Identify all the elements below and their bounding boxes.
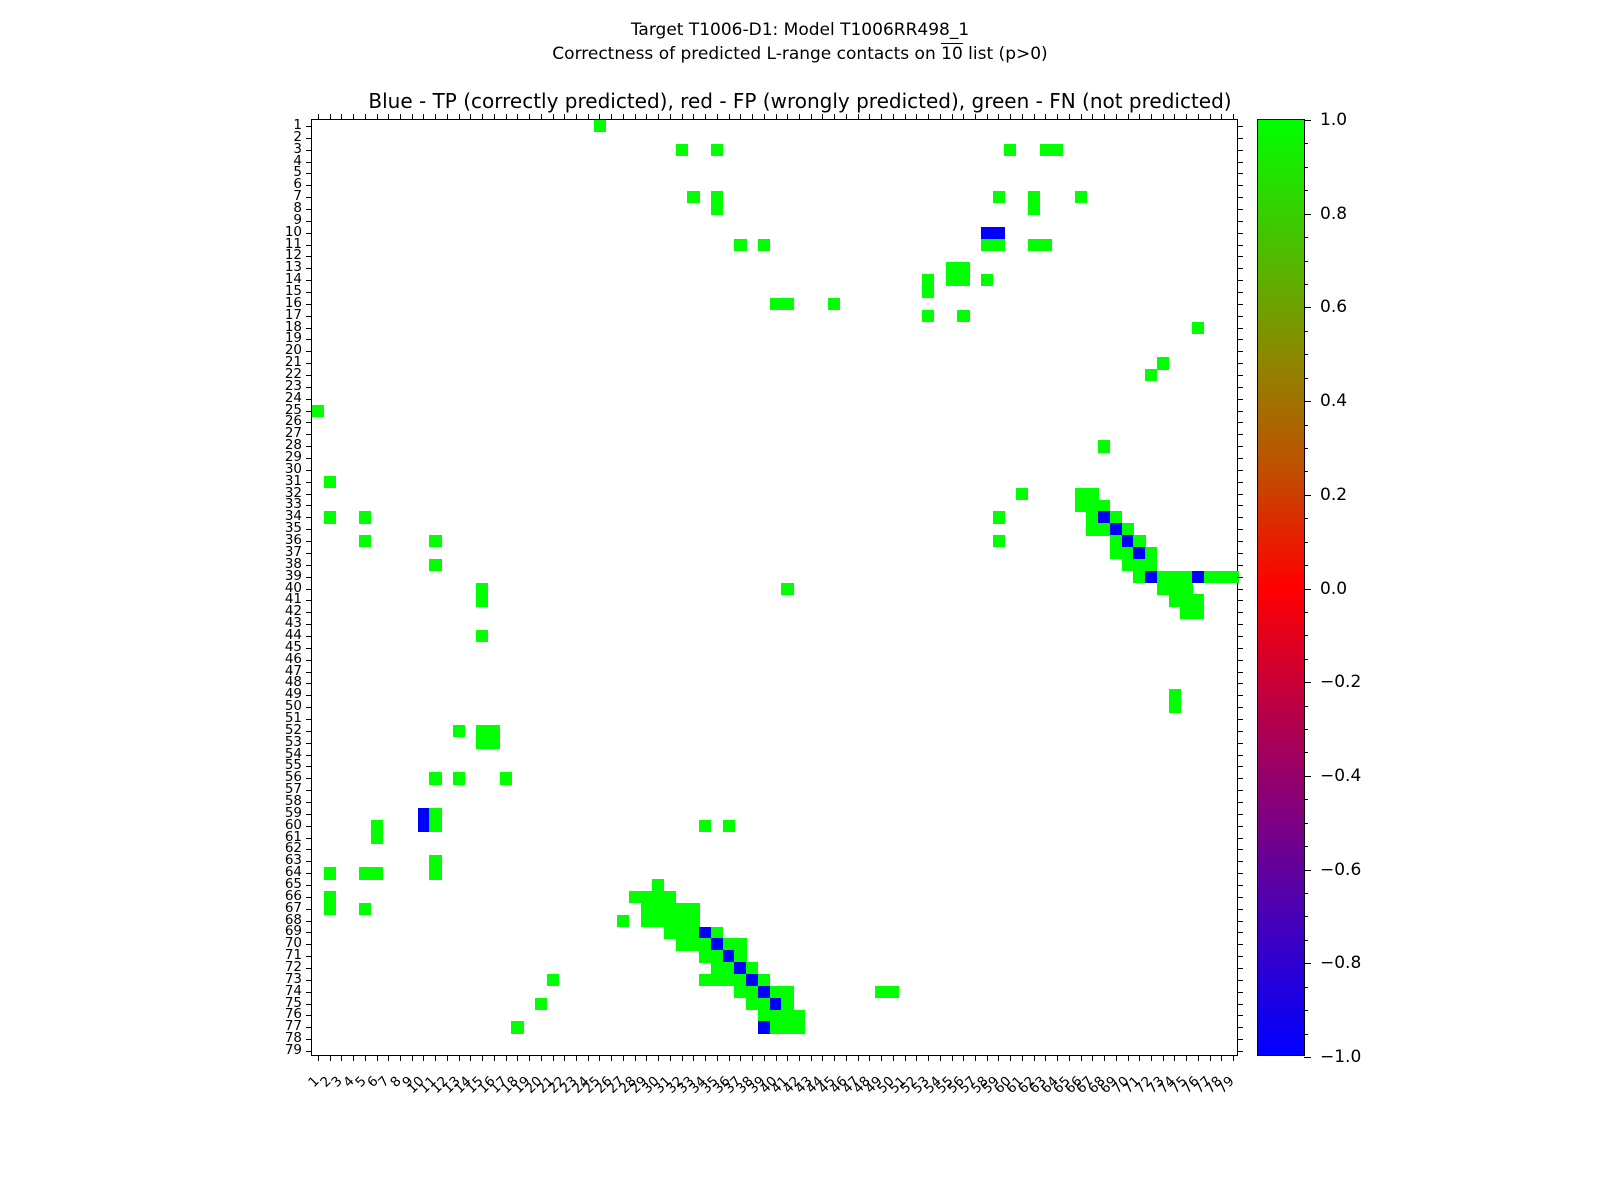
heatmap-cell — [1122, 547, 1134, 559]
x-axis-tick-label: 51 — [827, 1073, 909, 1155]
y-axis-tick-right — [1237, 256, 1243, 257]
y-axis-tick — [306, 411, 312, 412]
x-axis-tick-label: 62 — [956, 1073, 1038, 1155]
x-axis-tick-label: 3 — [264, 1073, 346, 1155]
y-axis-tick-label: 44 — [242, 629, 302, 641]
y-axis-tick-right — [1237, 992, 1243, 993]
y-axis-tick-label: 26 — [242, 415, 302, 427]
x-axis-tick-top — [494, 114, 495, 120]
heatmap-cell — [1122, 523, 1134, 535]
heatmap-cell — [664, 903, 676, 915]
y-axis-tick — [306, 162, 312, 163]
heatmap-cell — [1028, 191, 1040, 203]
y-axis-tick-label: 21 — [242, 356, 302, 368]
y-axis-tick-right — [1237, 921, 1243, 922]
x-axis-tick — [1116, 1055, 1117, 1061]
x-axis-tick-top — [611, 114, 612, 120]
heatmap-cell — [1110, 547, 1122, 559]
colorbar-minor-tick — [1304, 471, 1308, 472]
x-axis-tick-top — [1210, 114, 1211, 120]
x-axis-tick-top — [635, 114, 636, 120]
y-axis-tick — [306, 885, 312, 886]
y-axis-tick — [306, 268, 312, 269]
y-axis-tick — [306, 1004, 312, 1005]
x-axis-tick-top — [740, 114, 741, 120]
x-axis-tick-top — [588, 114, 589, 120]
x-axis-tick-top — [377, 114, 378, 120]
y-axis-tick — [306, 660, 312, 661]
heatmap-cell — [1075, 500, 1087, 512]
x-axis-tick-label: 70 — [1050, 1073, 1132, 1155]
x-axis-tick — [482, 1055, 483, 1061]
x-axis-tick-top — [388, 114, 389, 120]
x-axis-tick-label: 22 — [487, 1073, 569, 1155]
heatmap-cell — [312, 405, 324, 417]
y-axis-tick-right — [1237, 778, 1243, 779]
x-axis-tick — [693, 1055, 694, 1061]
x-axis-tick-label: 75 — [1109, 1073, 1191, 1155]
x-axis-tick — [1045, 1055, 1046, 1061]
heatmap-cell — [734, 950, 746, 962]
x-axis-tick-top — [353, 114, 354, 120]
y-axis-tick-label: 78 — [242, 1032, 302, 1044]
y-axis-tick-right — [1237, 802, 1243, 803]
x-axis-tick-label: 44 — [745, 1073, 827, 1155]
y-axis-tick-label: 61 — [242, 831, 302, 843]
x-axis-tick-label: 42 — [722, 1073, 804, 1155]
y-axis-tick — [306, 245, 312, 246]
x-axis-tick-top — [1045, 114, 1046, 120]
colorbar-tick-label: 1.0 — [1320, 110, 1347, 130]
heatmap-cell — [429, 559, 441, 571]
x-axis-tick-label: 53 — [851, 1073, 933, 1155]
x-axis-tick-top — [330, 114, 331, 120]
x-axis-tick-top — [1186, 114, 1187, 120]
y-axis-tick-right — [1237, 849, 1243, 850]
heatmap-cell — [711, 203, 723, 215]
x-axis-tick-label: 16 — [417, 1073, 499, 1155]
x-axis-tick-label: 40 — [698, 1073, 780, 1155]
colorbar-minor-tick — [1304, 542, 1308, 543]
heatmap-cell — [734, 938, 746, 950]
heatmap-cell — [453, 725, 465, 737]
heatmap-cell — [641, 891, 653, 903]
heatmap-cell — [1192, 606, 1204, 618]
x-axis-tick-top — [893, 114, 894, 120]
heatmap-cell — [723, 820, 735, 832]
y-axis-tick — [306, 992, 312, 993]
y-axis-tick-right — [1237, 162, 1243, 163]
x-axis-tick-label: 77 — [1132, 1073, 1214, 1155]
colorbar-minor-tick — [1304, 706, 1308, 707]
suptitle-line-2-post: list (p>0) — [963, 44, 1048, 64]
y-axis-tick-right — [1237, 1027, 1243, 1028]
x-axis-tick-top — [1010, 114, 1011, 120]
y-axis-tick-right — [1237, 1039, 1243, 1040]
y-axis-tick-right — [1237, 707, 1243, 708]
colorbar-minor-tick — [1304, 799, 1308, 800]
axes-title: Blue - TP (correctly predicted), red - F… — [0, 89, 1600, 113]
x-axis-tick — [1069, 1055, 1070, 1061]
y-axis-tick-right — [1237, 245, 1243, 246]
x-axis-tick — [776, 1055, 777, 1061]
x-axis-tick-label: 5 — [287, 1073, 369, 1155]
x-axis-tick-label: 4 — [276, 1073, 358, 1155]
x-axis-tick-label: 13 — [381, 1073, 463, 1155]
x-axis-tick — [646, 1055, 647, 1061]
x-axis-tick — [588, 1055, 589, 1061]
heatmap-cell — [887, 986, 899, 998]
x-axis-tick — [928, 1055, 929, 1061]
heatmap-cell — [922, 310, 934, 322]
y-axis-tick — [306, 909, 312, 910]
heatmap-cell — [781, 986, 793, 998]
x-axis-tick-top — [881, 114, 882, 120]
heatmap-cell — [957, 274, 969, 286]
y-axis-tick — [306, 434, 312, 435]
y-axis-tick-right — [1237, 458, 1243, 459]
x-axis-tick — [423, 1055, 424, 1061]
x-axis-tick-label: 39 — [686, 1073, 768, 1155]
y-axis-tick-right — [1237, 624, 1243, 625]
x-axis-tick-label: 17 — [428, 1073, 510, 1155]
x-axis-tick — [412, 1055, 413, 1061]
x-axis-tick — [799, 1055, 800, 1061]
y-axis-tick-label: 74 — [242, 985, 302, 997]
y-axis-tick-label: 36 — [242, 534, 302, 546]
heatmap-cell — [1133, 571, 1145, 583]
heatmap-cell — [1098, 511, 1110, 523]
y-axis-tick-label: 63 — [242, 854, 302, 866]
colorbar-minor-tick — [1304, 143, 1308, 144]
x-axis-tick-label: 69 — [1038, 1073, 1120, 1155]
y-axis-tick — [306, 861, 312, 862]
x-axis-tick — [599, 1055, 600, 1061]
heatmap-cell — [770, 298, 782, 310]
x-axis-tick — [1092, 1055, 1093, 1061]
x-axis-tick-label: 59 — [921, 1073, 1003, 1155]
y-axis-tick-right — [1237, 612, 1243, 613]
x-axis-tick-top — [1163, 114, 1164, 120]
y-axis-tick — [306, 351, 312, 352]
x-axis-tick-top — [799, 114, 800, 120]
x-axis-tick — [1151, 1055, 1152, 1061]
suptitle-overlined-number: 10 — [941, 43, 963, 64]
y-axis-tick — [306, 802, 312, 803]
y-axis-tick — [306, 980, 312, 981]
heatmap-cells — [312, 120, 1237, 1055]
y-axis-tick-label: 37 — [242, 546, 302, 558]
y-axis-tick-right — [1237, 399, 1243, 400]
heatmap-cell — [711, 950, 723, 962]
colorbar-tick — [1304, 589, 1311, 590]
y-axis-tick — [306, 849, 312, 850]
heatmap-cell — [652, 915, 664, 927]
y-axis-tick — [306, 778, 312, 779]
y-axis-tick-label: 58 — [242, 795, 302, 807]
heatmap-cell — [359, 535, 371, 547]
y-axis-tick-label: 12 — [242, 249, 302, 261]
y-axis-tick — [306, 648, 312, 649]
x-axis-tick — [365, 1055, 366, 1061]
colorbar-tick-label: 0.0 — [1320, 579, 1347, 599]
heatmap-cell — [993, 535, 1005, 547]
heatmap-cell — [770, 998, 782, 1010]
colorbar-minor-tick — [1304, 635, 1308, 636]
x-axis-tick-top — [1233, 114, 1234, 120]
y-axis-tick — [306, 826, 312, 827]
y-axis-tick — [306, 873, 312, 874]
colorbar-tick-label: 0.2 — [1320, 485, 1347, 505]
y-axis-tick-right — [1237, 838, 1243, 839]
y-axis-tick-right — [1237, 932, 1243, 933]
y-axis-tick-label: 52 — [242, 724, 302, 736]
x-axis-tick-label: 74 — [1097, 1073, 1179, 1155]
y-axis-tick — [306, 600, 312, 601]
y-axis-tick-label: 1 — [242, 119, 302, 131]
x-axis-tick-label: 21 — [475, 1073, 557, 1155]
x-axis-tick — [459, 1055, 460, 1061]
heatmap-cell — [1133, 547, 1145, 559]
y-axis-tick — [306, 743, 312, 744]
y-axis-tick-right — [1237, 565, 1243, 566]
x-axis-tick — [1034, 1055, 1035, 1061]
heatmap-cell — [711, 962, 723, 974]
heatmap-cell — [1180, 594, 1192, 606]
y-axis-tick-label: 23 — [242, 380, 302, 392]
x-axis-tick-label: 18 — [440, 1073, 522, 1155]
heatmap-cell — [359, 867, 371, 879]
heatmap-cell — [758, 986, 770, 998]
y-axis-tick-label: 45 — [242, 641, 302, 653]
x-axis-tick-label: 72 — [1074, 1073, 1156, 1155]
heatmap-cell — [781, 298, 793, 310]
heatmap-cell — [1098, 500, 1110, 512]
heatmap-cell — [711, 144, 723, 156]
y-axis-tick-label: 4 — [242, 155, 302, 167]
x-axis-tick — [764, 1055, 765, 1061]
heatmap-cell — [781, 1021, 793, 1033]
y-axis-tick-right — [1237, 280, 1243, 281]
heatmap-cell — [699, 820, 711, 832]
x-axis-tick-label: 45 — [757, 1073, 839, 1155]
y-axis-tick-label: 46 — [242, 653, 302, 665]
heatmap-cell — [758, 1010, 770, 1022]
heatmap-cell — [781, 1010, 793, 1022]
y-axis-tick — [306, 387, 312, 388]
heatmap-cell — [1110, 511, 1122, 523]
heatmap-cell — [1051, 144, 1063, 156]
heatmap-cell — [687, 927, 699, 939]
heatmap-cell — [687, 938, 699, 950]
x-axis-tick — [353, 1055, 354, 1061]
y-axis-tick-right — [1237, 292, 1243, 293]
y-axis-tick — [306, 399, 312, 400]
x-axis-tick-top — [529, 114, 530, 120]
colorbar-minor-tick — [1304, 846, 1308, 847]
x-axis-tick-label: 54 — [862, 1073, 944, 1155]
x-axis-tick — [893, 1055, 894, 1061]
y-axis-tick — [306, 517, 312, 518]
x-axis-tick-label: 11 — [358, 1073, 440, 1155]
heatmap-cell — [1122, 535, 1134, 547]
colorbar-tick — [1304, 870, 1311, 871]
heatmap-cell — [1169, 583, 1181, 595]
y-axis-tick-right — [1237, 885, 1243, 886]
x-axis-tick — [682, 1055, 683, 1061]
colorbar-minor-tick — [1304, 893, 1308, 894]
y-axis-tick-label: 10 — [242, 226, 302, 238]
heatmap-cell — [746, 974, 758, 986]
heatmap-cell — [676, 144, 688, 156]
x-axis-tick-top — [1081, 114, 1082, 120]
x-axis-tick-label: 31 — [593, 1073, 675, 1155]
x-axis-tick-top — [318, 114, 319, 120]
y-axis-tick-label: 65 — [242, 878, 302, 890]
x-axis-tick-top — [670, 114, 671, 120]
x-axis-tick — [952, 1055, 953, 1061]
x-axis-tick — [1022, 1055, 1023, 1061]
y-axis-tick-right — [1237, 494, 1243, 495]
y-axis-tick — [306, 790, 312, 791]
heatmap-cell — [758, 239, 770, 251]
x-axis-tick — [787, 1055, 788, 1061]
x-axis-tick-label: 12 — [370, 1073, 452, 1155]
y-axis-tick-label: 66 — [242, 890, 302, 902]
y-axis-tick — [306, 755, 312, 756]
contact-map-plot[interactable] — [311, 119, 1238, 1056]
x-axis-tick — [623, 1055, 624, 1061]
y-axis-tick-label: 54 — [242, 748, 302, 760]
colorbar-tick-label: −0.4 — [1320, 766, 1361, 786]
y-axis-tick-label: 33 — [242, 498, 302, 510]
x-axis-tick-label: 34 — [628, 1073, 710, 1155]
colorbar-tick — [1304, 1057, 1311, 1058]
x-axis-tick — [881, 1055, 882, 1061]
y-axis-tick-right — [1237, 268, 1243, 269]
heatmap-cell — [1169, 571, 1181, 583]
heatmap-cell — [476, 630, 488, 642]
y-axis-tick-right — [1237, 422, 1243, 423]
x-axis-tick-label: 24 — [510, 1073, 592, 1155]
y-axis-tick-right — [1237, 505, 1243, 506]
y-axis-tick-right — [1237, 731, 1243, 732]
y-axis-tick — [306, 932, 312, 933]
heatmap-cell — [981, 239, 993, 251]
x-axis-tick-label: 26 — [534, 1073, 616, 1155]
colorbar-tick-label: 0.4 — [1320, 391, 1347, 411]
y-axis-tick-label: 47 — [242, 665, 302, 677]
heatmap-cell — [488, 737, 500, 749]
colorbar-minor-tick — [1304, 916, 1308, 917]
y-axis-tick-right — [1237, 185, 1243, 186]
x-axis-tick-label: 15 — [405, 1073, 487, 1155]
x-axis-tick — [740, 1055, 741, 1061]
heatmap-cell — [781, 583, 793, 595]
heatmap-cell — [1028, 203, 1040, 215]
x-axis-tick-top — [998, 114, 999, 120]
y-axis-tick — [306, 280, 312, 281]
heatmap-cell — [1040, 239, 1052, 251]
y-axis-tick-right — [1237, 600, 1243, 601]
x-axis-tick-top — [482, 114, 483, 120]
heatmap-cell — [429, 867, 441, 879]
x-axis-tick — [330, 1055, 331, 1061]
heatmap-cell — [1204, 571, 1216, 583]
y-axis-tick-label: 55 — [242, 759, 302, 771]
heatmap-cell — [629, 891, 641, 903]
x-axis-tick — [435, 1055, 436, 1061]
heatmap-cell — [758, 998, 770, 1010]
heatmap-cell — [418, 820, 430, 832]
y-axis-tick-label: 75 — [242, 997, 302, 1009]
x-axis-tick-label: 37 — [663, 1073, 745, 1155]
y-axis-tick-label: 3 — [242, 143, 302, 155]
heatmap-cell — [594, 120, 606, 132]
colorbar-minor-tick — [1304, 378, 1308, 379]
colorbar-tick-label: −0.2 — [1320, 672, 1361, 692]
y-axis-tick-label: 57 — [242, 783, 302, 795]
x-axis-tick — [529, 1055, 530, 1061]
heatmap-cell — [652, 891, 664, 903]
heatmap-cell — [758, 1021, 770, 1033]
heatmap-cell — [652, 903, 664, 915]
x-axis-tick-label: 57 — [898, 1073, 980, 1155]
y-axis-tick-right — [1237, 577, 1243, 578]
heatmap-cell — [359, 511, 371, 523]
heatmap-cell — [922, 274, 934, 286]
heatmap-cell — [476, 583, 488, 595]
y-axis-tick — [306, 921, 312, 922]
x-axis-tick-top — [423, 114, 424, 120]
y-axis-tick-right — [1237, 897, 1243, 898]
y-axis-tick — [306, 1039, 312, 1040]
heatmap-cell — [957, 310, 969, 322]
heatmap-cell — [1192, 571, 1204, 583]
x-axis-tick — [400, 1055, 401, 1061]
x-axis-tick-top — [517, 114, 518, 120]
y-axis-tick-label: 64 — [242, 866, 302, 878]
heatmap-cell — [1110, 535, 1122, 547]
colorbar[interactable] — [1257, 119, 1305, 1056]
x-axis-tick — [752, 1055, 753, 1061]
x-axis-tick-top — [717, 114, 718, 120]
y-axis-tick-right — [1237, 541, 1243, 542]
heatmap-cell — [1122, 559, 1134, 571]
y-axis-tick-right — [1237, 1004, 1243, 1005]
heatmap-cell — [324, 476, 336, 488]
heatmap-cell — [324, 903, 336, 915]
y-axis-tick — [306, 482, 312, 483]
heatmap-cell — [957, 262, 969, 274]
y-axis-tick-right — [1237, 150, 1243, 151]
y-axis-tick — [306, 683, 312, 684]
x-axis-tick-label: 36 — [651, 1073, 733, 1155]
y-axis-tick-label: 2 — [242, 131, 302, 143]
y-axis-tick — [306, 1027, 312, 1028]
x-axis-tick-top — [869, 114, 870, 120]
heatmap-cell — [734, 962, 746, 974]
heatmap-cell — [535, 998, 547, 1010]
y-axis-tick-label: 18 — [242, 321, 302, 333]
x-axis-tick — [635, 1055, 636, 1061]
y-axis-tick — [306, 446, 312, 447]
x-axis-tick-label: 71 — [1062, 1073, 1144, 1155]
y-axis-tick — [306, 339, 312, 340]
colorbar-minor-tick — [1304, 354, 1308, 355]
y-axis-tick — [306, 541, 312, 542]
y-axis-tick-label: 50 — [242, 700, 302, 712]
